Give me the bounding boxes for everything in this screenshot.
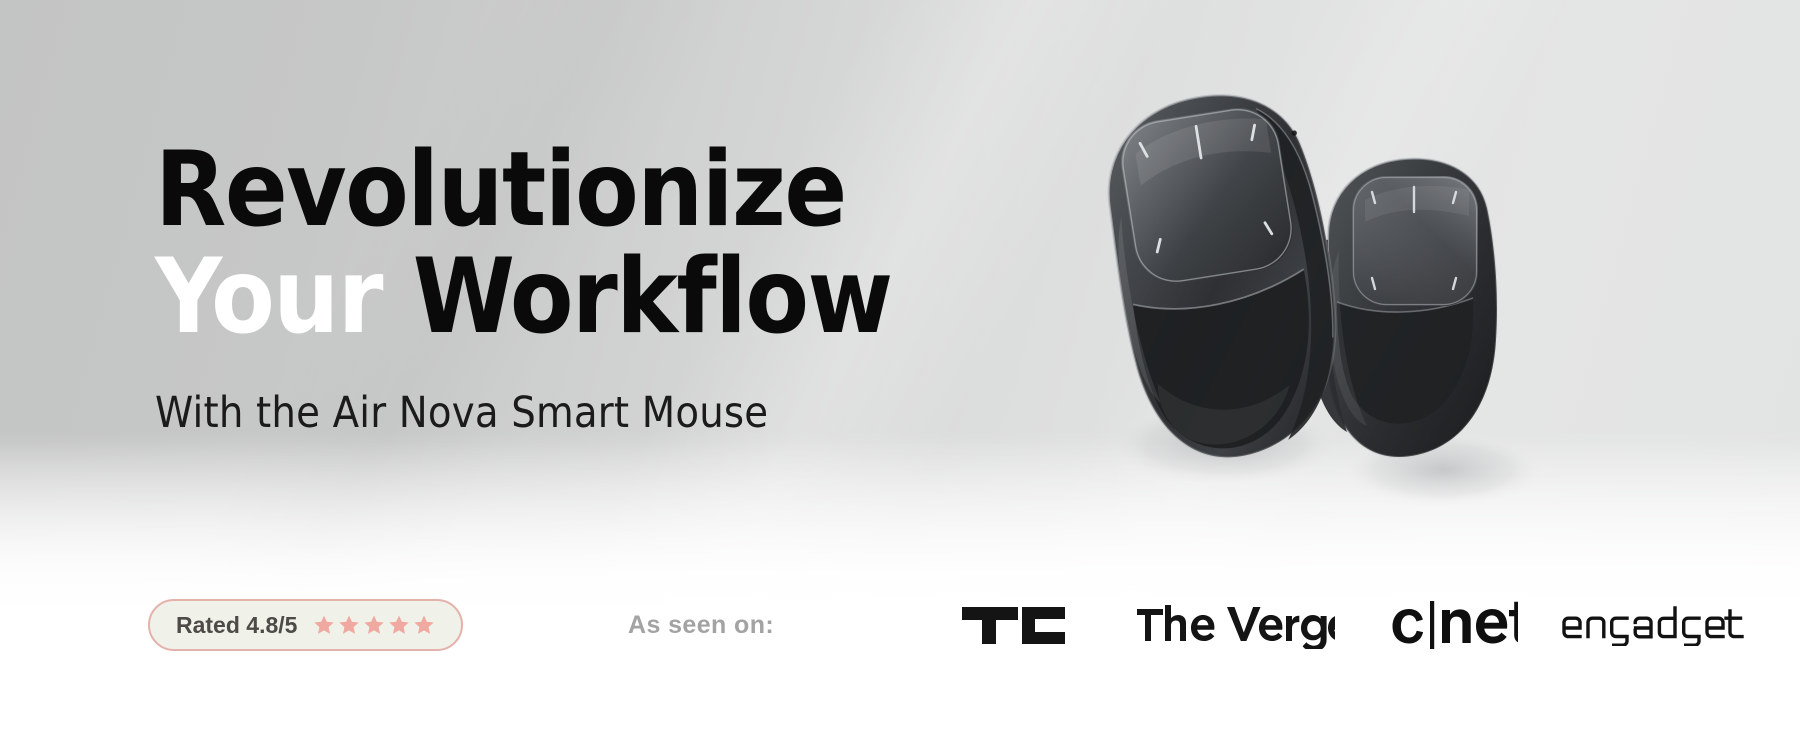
star-icon [413, 614, 435, 636]
social-proof-bar: Rated 4.8/5 As seen on: [0, 581, 1800, 741]
star-rating [313, 614, 435, 636]
product-image-smart-mouse [1075, 40, 1675, 510]
the-verge-logo[interactable] [1110, 599, 1360, 651]
headline-line-2-rest: Workflow [382, 237, 892, 357]
page-title: Revolutionize Your Workflow [155, 140, 975, 348]
headline-line-1: Revolutionize [155, 130, 846, 250]
hero-banner: Revolutionize Your Workflow With the Air… [0, 0, 1800, 741]
star-icon [313, 614, 335, 636]
touchpad-left [1115, 102, 1299, 289]
as-seen-on-label: As seen on: [628, 611, 774, 640]
mouse-unit-left [1093, 81, 1358, 471]
rating-badge[interactable]: Rated 4.8/5 [148, 599, 463, 651]
cnet-logo[interactable] [1360, 599, 1545, 651]
star-icon [338, 614, 360, 636]
headline-highlight-word: Your [155, 237, 382, 357]
hero-subheadline: With the Air Nova Smart Mouse [155, 390, 975, 437]
star-icon [388, 614, 410, 636]
hero-copy: Revolutionize Your Workflow With the Air… [155, 140, 975, 437]
press-logo-list [930, 599, 1760, 651]
rating-label: Rated 4.8/5 [176, 612, 297, 639]
techcrunch-logo[interactable] [930, 599, 1110, 651]
headline-line-2: Your Workflow [155, 247, 975, 348]
engadget-logo[interactable] [1545, 599, 1760, 651]
touchpad-right [1352, 176, 1478, 306]
star-icon [363, 614, 385, 636]
